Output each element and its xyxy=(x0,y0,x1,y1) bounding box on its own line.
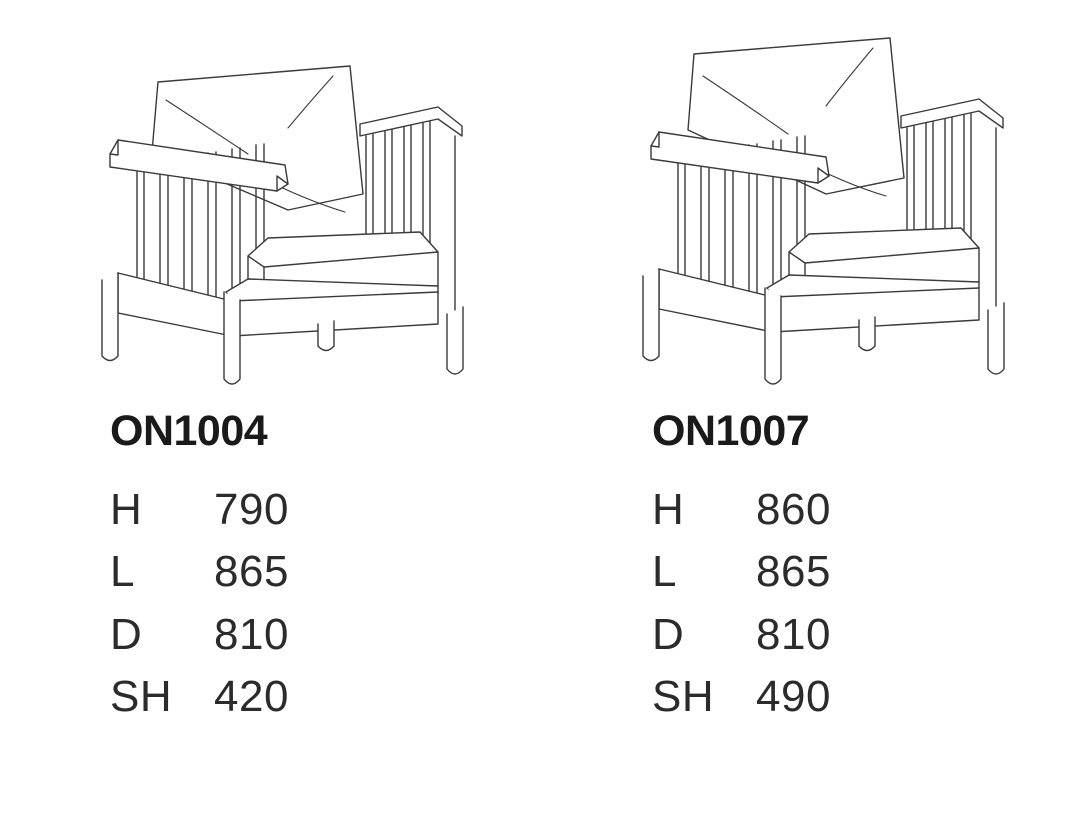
leg-front-right xyxy=(765,288,781,384)
dimension-row-sh: SH 420 xyxy=(110,666,289,728)
dimension-row-l: L 865 xyxy=(110,541,289,603)
dimension-row-sh: SH 490 xyxy=(652,666,831,728)
model-code: ON1007 xyxy=(652,410,1072,453)
dimension-label: L xyxy=(110,541,214,603)
dimension-label: H xyxy=(110,479,214,541)
leg-rear-middle xyxy=(318,321,334,351)
dimension-label: SH xyxy=(110,666,214,728)
dimension-label: H xyxy=(652,479,756,541)
spec-block-on1007: ON1007 H 860 L 865 D 810 xyxy=(652,410,1072,729)
dimension-label: SH xyxy=(652,666,756,728)
dimension-value: 810 xyxy=(756,604,831,666)
dimension-row-d: D 810 xyxy=(652,604,831,666)
dimension-value: 860 xyxy=(756,479,831,541)
side-rail-near xyxy=(651,269,773,332)
dimension-table: H 860 L 865 D 810 SH 490 xyxy=(652,479,831,729)
dimension-label: D xyxy=(652,604,756,666)
dimension-row-h: H 790 xyxy=(110,479,289,541)
dimension-value: 810 xyxy=(214,604,289,666)
dimension-label: L xyxy=(652,541,756,603)
leg-front-right xyxy=(224,292,240,384)
product-column-2: ON1007 H 860 L 865 D 810 xyxy=(546,0,1092,819)
dimension-row-l: L 865 xyxy=(652,541,831,603)
armchair-drawing-on1007 xyxy=(546,24,1092,394)
leg-rear-right xyxy=(988,303,1004,374)
spec-block-on1004: ON1004 H 790 L 865 D 810 xyxy=(110,410,530,729)
leg-rear-middle xyxy=(859,317,875,351)
dimension-value: 790 xyxy=(214,479,289,541)
product-column-1: ON1004 H 790 L 865 D 810 xyxy=(0,0,546,819)
dimension-value: 490 xyxy=(756,666,831,728)
leg-front-left xyxy=(102,273,118,361)
leg-rear-right xyxy=(447,307,463,374)
dimension-value: 865 xyxy=(214,541,289,603)
dimension-row-h: H 860 xyxy=(652,479,831,541)
dimension-value: 865 xyxy=(756,541,831,603)
dimension-label: D xyxy=(110,604,214,666)
dimension-value: 420 xyxy=(214,666,289,728)
dimension-table: H 790 L 865 D 810 SH 420 xyxy=(110,479,289,729)
leg-front-left xyxy=(643,269,659,361)
product-spec-sheet: ON1004 H 790 L 865 D 810 xyxy=(0,0,1092,819)
armchair-drawing-on1004 xyxy=(0,24,546,394)
side-rail-near xyxy=(110,273,232,336)
model-code: ON1004 xyxy=(110,410,530,453)
dimension-row-d: D 810 xyxy=(110,604,289,666)
